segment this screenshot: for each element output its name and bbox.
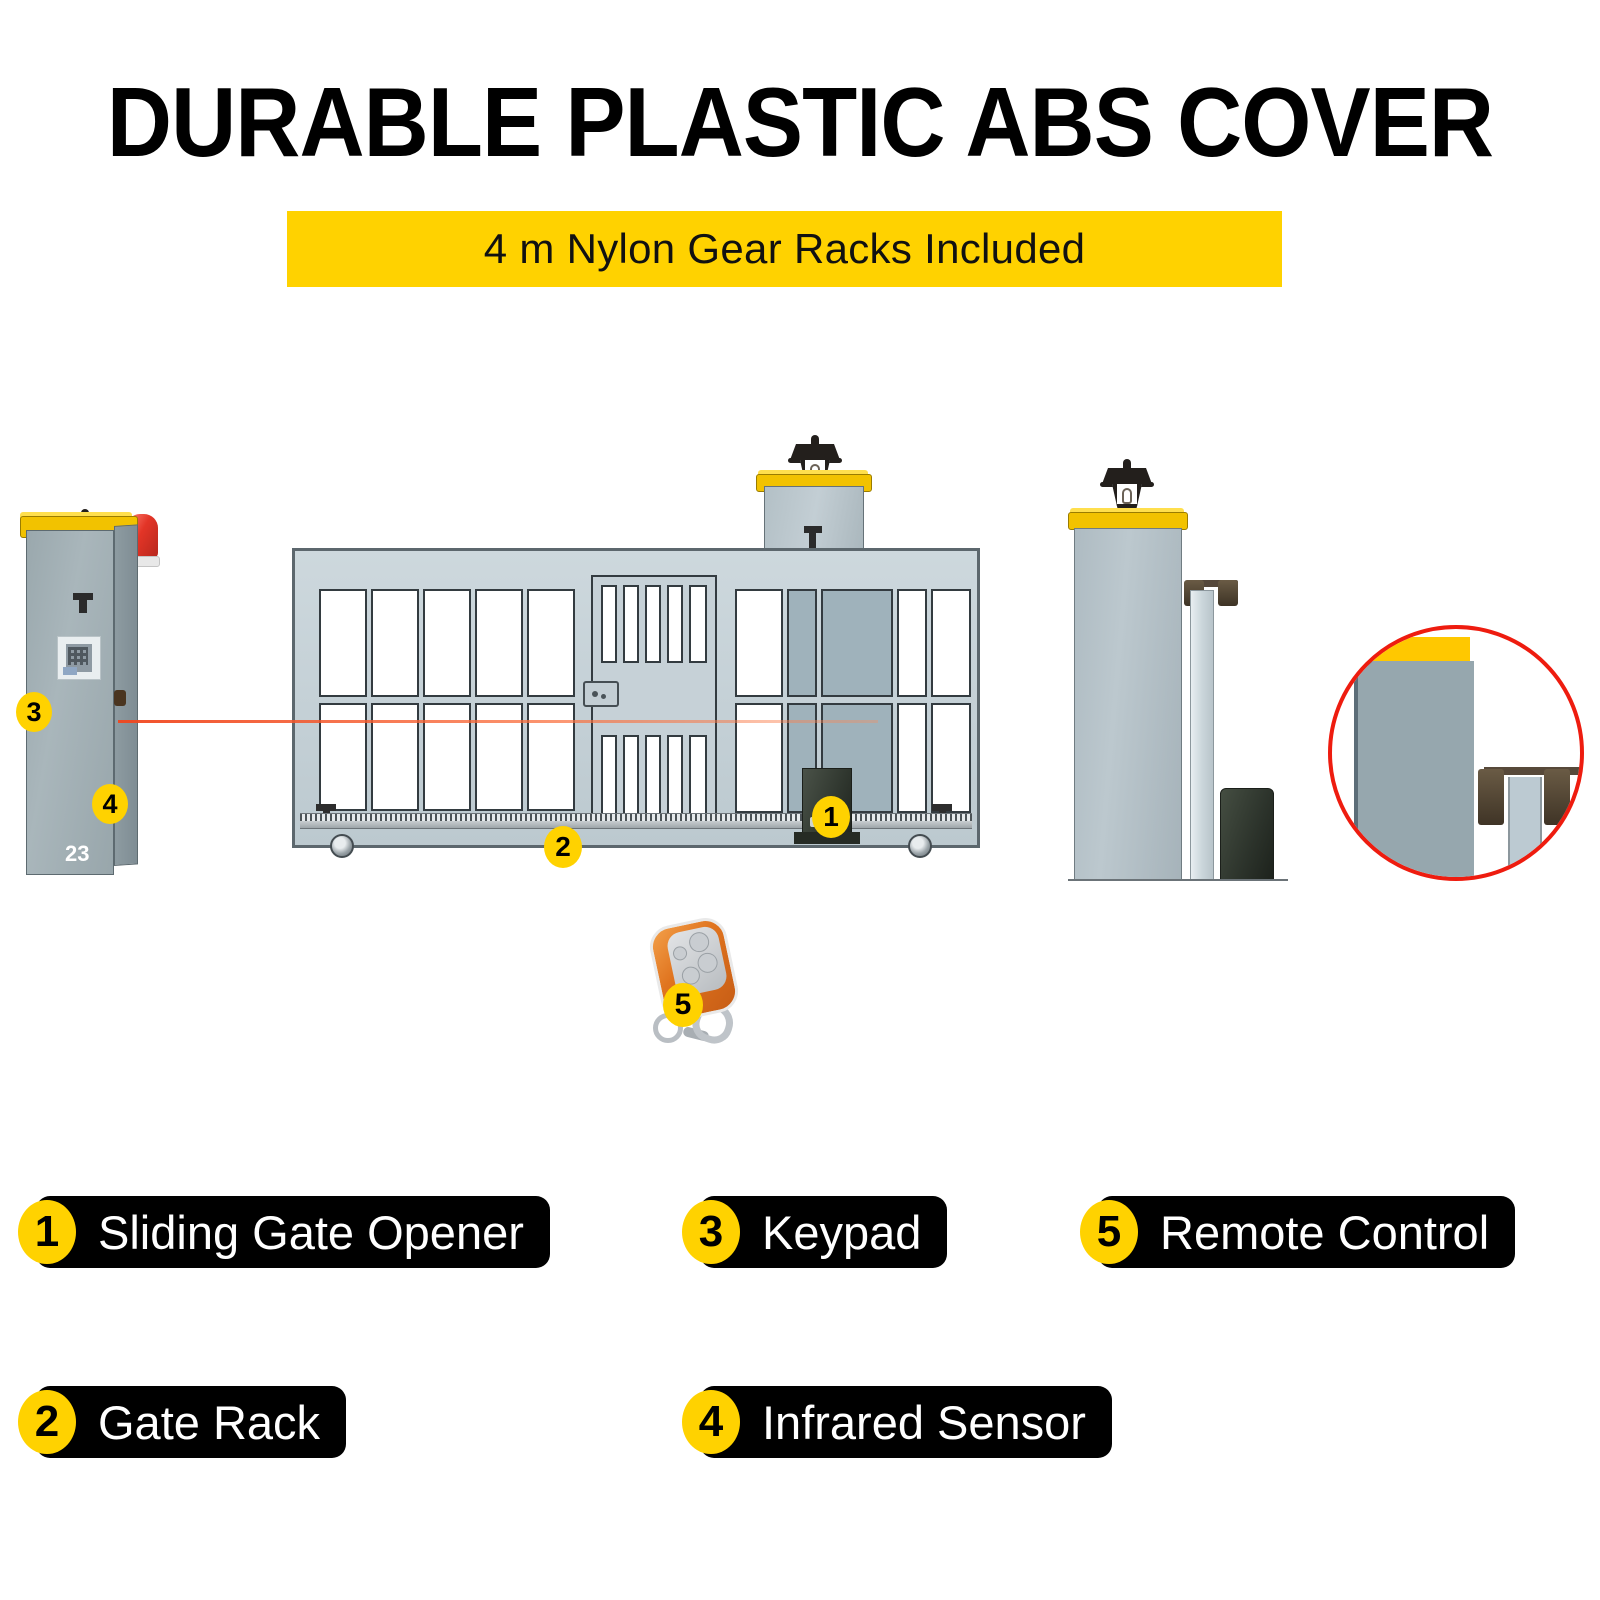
gate-window-tinted [787, 589, 817, 697]
remote-button-3 [696, 951, 720, 975]
gate-window [897, 589, 927, 697]
side-lamp-icon [1100, 452, 1154, 514]
subtitle-text: 4 m Nylon Gear Racks Included [287, 211, 1282, 287]
gate-window [475, 589, 523, 697]
legend-badge-2: 2 [18, 1390, 76, 1454]
gate-wheel [330, 834, 354, 858]
remote-button-2 [687, 930, 711, 954]
marker-5: 5 [663, 983, 703, 1027]
keypad-device[interactable] [57, 636, 101, 680]
legend-pill-4: Infrared Sensor [700, 1386, 1112, 1458]
legend-badge-3: 3 [682, 1200, 740, 1264]
gate-bar [689, 735, 707, 817]
marker-4: 4 [92, 784, 128, 824]
legend-label-1: Sliding Gate Opener [36, 1205, 550, 1260]
product-infographic: DURABLE PLASTIC ABS COVER 4 m Nylon Gear… [0, 0, 1600, 1600]
legend-label-2: Gate Rack [36, 1395, 346, 1450]
gate-bar [667, 585, 683, 663]
gate-bar [667, 735, 683, 817]
detail-pillar-edge [1354, 663, 1358, 881]
keypad-indicator [63, 667, 77, 675]
side-gate-panel [1190, 590, 1214, 880]
marker-3: 3 [16, 692, 52, 732]
marker-2: 2 [544, 826, 582, 868]
gate-side-view [1068, 440, 1298, 885]
detail-circle [1328, 625, 1584, 881]
gate-bar [689, 585, 707, 663]
side-pillar-body [1074, 528, 1182, 880]
detail-pillar-body [1356, 661, 1474, 881]
legend-badge-1: 1 [18, 1200, 76, 1264]
gate-rack [300, 813, 972, 829]
gate-window [931, 703, 971, 813]
side-roller-right [1218, 580, 1238, 606]
t-slot-stem-icon [79, 599, 87, 613]
legend-badge-4: 4 [682, 1390, 740, 1454]
page-title: DURABLE PLASTIC ABS COVER [64, 72, 1536, 172]
gate-bar [601, 585, 617, 663]
legend-label-4: Infrared Sensor [700, 1395, 1112, 1450]
legend-badge-5: 5 [1080, 1200, 1138, 1264]
gate-bar [623, 735, 639, 817]
detail-callout-inset [1328, 625, 1584, 881]
gate-window-tinted [821, 589, 893, 697]
gate-lock [583, 681, 619, 707]
detail-gate-panel [1508, 777, 1542, 881]
gate-bar [601, 735, 617, 817]
infrared-beam [118, 720, 878, 723]
remote-button-1 [672, 945, 689, 962]
side-motor [1220, 788, 1274, 880]
legend-pill-2: Gate Rack [36, 1386, 346, 1458]
gate-frame [292, 548, 980, 848]
product-illustration: 23 3 4 [0, 400, 1600, 1080]
gate-window [319, 589, 367, 697]
gate-window [527, 589, 575, 697]
gate-bar [623, 585, 639, 663]
subtitle-banner: 4 m Nylon Gear Racks Included [287, 211, 1282, 287]
keypad-pillar: 23 3 4 [20, 500, 145, 875]
infrared-sensor-device [114, 690, 126, 706]
gate-bar [645, 585, 661, 663]
pillar-size-label: 23 [65, 841, 89, 867]
gate-window [371, 589, 419, 697]
gate-window [735, 589, 783, 697]
detail-bracket-right [1544, 769, 1570, 825]
gate-wheel [908, 834, 932, 858]
detail-bracket-left [1478, 769, 1504, 825]
ground-line [1068, 879, 1288, 881]
remote-control: 5 [645, 915, 745, 1060]
gate-bar [645, 735, 661, 817]
gate-window [897, 703, 927, 813]
legend-pill-1: Sliding Gate Opener [36, 1196, 550, 1268]
keypad-buttons-icon [68, 647, 88, 665]
gate-window [423, 589, 471, 697]
sliding-gate: 1 2 [292, 448, 980, 878]
gate-window [931, 589, 971, 697]
legend-label-5: Remote Control [1098, 1205, 1515, 1260]
rack-teeth [300, 814, 972, 821]
marker-1: 1 [812, 796, 850, 838]
legend-pill-5: Remote Control [1098, 1196, 1515, 1268]
